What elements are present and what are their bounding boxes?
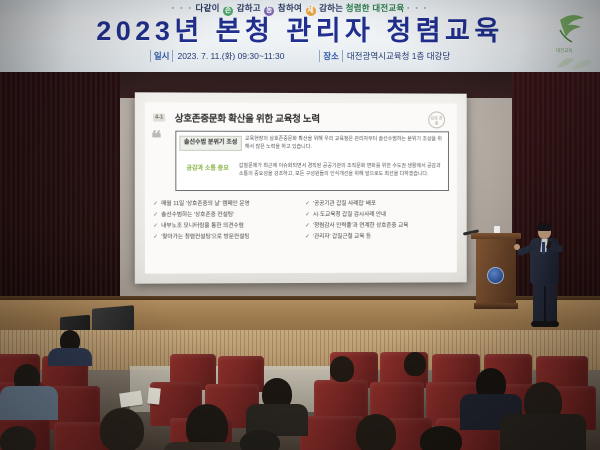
stage-curtain-left [0, 72, 120, 330]
presenter-hair [537, 223, 552, 231]
slide-content: 4-1 상호존중문화 확산을 위한 교육청 노력 상호 존중 ❝ 솔선수범 분위… [145, 102, 457, 273]
slide-header: 4-1 상호존중문화 확산을 위한 교육청 노력 상호 존중 [153, 108, 449, 127]
seat [300, 416, 364, 450]
place-label: 장소 [319, 50, 343, 62]
audience-head [240, 430, 280, 450]
podium-emblem-icon [487, 267, 504, 284]
datetime-value: 2023. 7. 11.(화) 09:30~11:30 [177, 51, 284, 61]
quote-text-1: 교육현장의 상호존중문화 확산을 위해 우리 교육청은 관리자부터 솔선수범하는… [245, 136, 448, 151]
audience-shoulders [0, 386, 58, 420]
checklist-column-right: ✓'공공기관 갑질 사례집' 배포 ✓시·도교육청 갑질 감시사례 안내 ✓'청… [301, 199, 451, 243]
slide-title: 상호존중문화 확산을 위한 교육청 노력 [175, 111, 320, 125]
presentation-photo: • • • 다같이 존 감하고 동 참하여 체 감하는 청렴한 대전교육 • •… [0, 0, 600, 450]
tagline-dots-left: • • • [172, 5, 193, 12]
checklist-text: '청렴감사 인력풀'과 연계한 상호존중 교육 [313, 223, 408, 229]
check-icon: ✓ [153, 201, 158, 207]
event-banner: • • • 다같이 존 감하고 동 참하여 체 감하는 청렴한 대전교육 • •… [0, 0, 600, 72]
quote-text-2: 갑질문제가 최근에 이슈화되면서 경직된 공공기관의 조직문화 변화를 위한 수… [239, 163, 448, 178]
tagline-text-2: 감하고 [237, 3, 261, 13]
quote-mark-icon: ❝ [151, 133, 161, 147]
tagline-text-3: 참하여 [278, 3, 302, 13]
check-icon: ✓ [305, 234, 310, 240]
audience-shoulders [48, 348, 92, 366]
check-icon: ✓ [305, 223, 310, 229]
check-icon: ✓ [153, 223, 158, 229]
checklist-item: ✓'청렴감사 인력풀'과 연계한 상호존중 교육 [305, 221, 451, 232]
quote-label-1: 솔선수범 분위기 조성 [179, 136, 241, 151]
auditorium-seating [0, 330, 600, 450]
tagline-text-1: 다같이 [196, 3, 220, 13]
checklist-item: ✓솔선수범하는 '상호존중 컨설팅' [153, 210, 301, 221]
audience-head [100, 408, 144, 450]
audience-shoulders [500, 414, 586, 450]
podium [474, 233, 518, 309]
presenter-left-hand [514, 244, 520, 250]
quote-block-2: 공감과 소통 중요 갑질문제가 최근에 이슈화되면서 경직된 공공기관의 조직문… [176, 163, 448, 178]
presenter-leg-split [544, 286, 546, 322]
leaf-decoration-icon [554, 54, 594, 70]
checklist-text: 솔선수범하는 '상호존중 컨설팅' [161, 212, 234, 218]
banner-title: 2023년 본청 관리자 청렴교육 [0, 14, 600, 48]
check-icon: ✓ [305, 201, 310, 207]
tagline-text-4: 감하는 [319, 3, 343, 13]
tagline-accent: 청렴한 대전교육 [346, 3, 405, 13]
tagline-dots-right: • • • [407, 5, 428, 12]
checklist-text: '찾아가는 청렴컨설팅'으로 방문컨설팅 [161, 234, 249, 240]
check-icon: ✓ [153, 212, 158, 218]
presenter [521, 224, 571, 324]
checklist-text: '공공기관 갑질 사례집' 배포 [313, 201, 376, 207]
quote-block-1: 솔선수범 분위기 조성 교육현장의 상호존중문화 확산을 위해 우리 교육청은 … [176, 136, 448, 152]
checklist-text: 시·도교육청 갑질 감시사례 안내 [313, 212, 386, 218]
checklist-item: ✓내부노조 모니터링을 통한 의견수렴 [153, 221, 301, 232]
checklist-text: 매월 11일 '상호존중의 날' 캠페인 운영 [161, 201, 249, 207]
quote-label-2: 공감과 소통 중요 [176, 163, 239, 178]
audience-head [404, 352, 426, 376]
datetime-label: 일시 [150, 50, 174, 62]
checklist-item: ✓'관리자' 갑질근절 교육 등 [305, 232, 451, 243]
integrity-stamp-icon: 상호 존중 [428, 111, 445, 128]
check-icon: ✓ [305, 212, 310, 218]
handout-paper [147, 387, 161, 404]
daejeon-education-logo-icon: 대전교육 [546, 8, 598, 56]
checklist-column-left: ✓매월 11일 '상호존중의 날' 캠페인 운영 ✓솔선수범하는 '상호존중 컨… [153, 199, 301, 243]
checklist-text: 내부노조 모니터링을 통한 의견수렴 [161, 223, 244, 229]
slide-number-marker: 4-1 [153, 114, 165, 122]
svg-text:대전교육: 대전교육 [556, 47, 573, 54]
projection-screen: 4-1 상호존중문화 확산을 위한 교육청 노력 상호 존중 ❝ 솔선수범 분위… [135, 92, 467, 283]
checklist-item: ✓매월 11일 '상호존중의 날' 캠페인 운영 [153, 199, 301, 210]
audience-head [420, 426, 462, 450]
slide-checklist: ✓매월 11일 '상호존중의 날' 캠페인 운영 ✓솔선수범하는 '상호존중 컨… [153, 199, 451, 243]
slide-quote-box: 솔선수범 분위기 조성 교육현장의 상호존중문화 확산을 위해 우리 교육청은 … [175, 131, 449, 191]
podium-base [474, 303, 518, 309]
audience-head [330, 356, 354, 382]
checklist-item: ✓시·도교육청 갑질 감시사례 안내 [305, 210, 451, 221]
checklist-item: ✓'공공기관 갑질 사례집' 배포 [305, 199, 451, 210]
banner-details: 일시2023. 7. 11.(화) 09:30~11:30 장소대전광역시교육청… [0, 50, 600, 62]
audience-head [356, 414, 396, 450]
presenter-shoes [531, 321, 559, 327]
presenter-tie [542, 242, 545, 254]
checklist-item: ✓'찾아가는 청렴컨설팅'으로 방문컨설팅 [153, 232, 301, 243]
audience-head [0, 426, 36, 450]
check-icon: ✓ [153, 234, 158, 240]
checklist-text: '관리자' 갑질근절 교육 등 [313, 234, 371, 240]
place-value: 대전광역시교육청 1층 대강당 [347, 51, 450, 61]
